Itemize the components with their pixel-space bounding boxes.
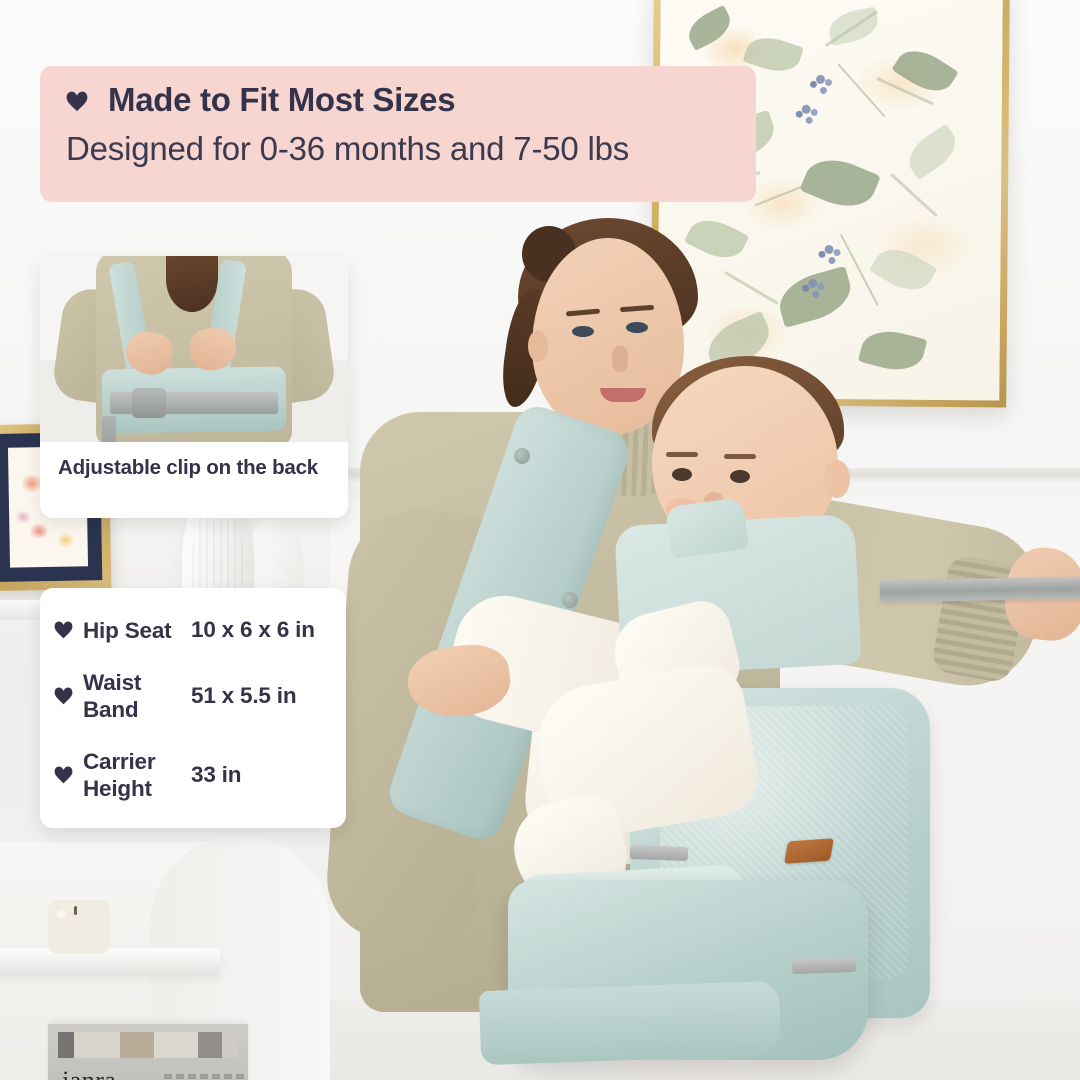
strap-snap-top: [514, 448, 530, 464]
banner-title: Made to Fit Most Sizes: [108, 82, 455, 118]
baby-eyebrow-right: [724, 454, 756, 459]
spec-label: Hip Seat: [83, 617, 181, 644]
carrier-waist-band: [479, 981, 781, 1065]
bubble-candle: [48, 900, 110, 954]
strap-snap-middle: [562, 592, 578, 608]
heart-icon: [54, 621, 73, 639]
inset-caption: Adjustable clip on the back: [40, 442, 348, 480]
adjustable-clip-photo: [40, 256, 348, 442]
heart-icon: [54, 687, 73, 705]
spec-label: Waist Band: [83, 669, 181, 723]
baby-eye-right: [730, 470, 750, 483]
coffee-table-book: janra: [48, 1024, 248, 1080]
mother-ear: [528, 330, 548, 362]
banner-subtitle: Designed for 0-36 months and 7-50 lbs: [66, 130, 728, 168]
baby-ear: [824, 460, 850, 498]
spec-row-waist-band: Waist Band 51 x 5.5 in: [54, 669, 332, 723]
spec-label: Carrier Height: [83, 748, 181, 802]
mother-with-baby: [300, 180, 1080, 1080]
baby-eye-left: [672, 468, 692, 481]
baby-eyebrow-left: [666, 452, 698, 457]
infographic-canvas: janra: [0, 0, 1080, 1080]
carrier-webbing-mid: [630, 845, 688, 861]
spec-value: 10 x 6 x 6 in: [191, 617, 315, 643]
mother-eye-left: [572, 326, 594, 337]
brand-leather-tag: [784, 838, 834, 864]
feature-inset-card: Adjustable clip on the back: [40, 256, 348, 518]
waist-strap-extended: [880, 576, 1080, 602]
spec-value: 51 x 5.5 in: [191, 683, 296, 709]
mother-nose: [612, 346, 628, 372]
book-title: janra: [62, 1066, 116, 1080]
mantel-shelf: [0, 948, 220, 974]
carrier-webbing-lower: [792, 957, 856, 974]
heart-icon: [54, 766, 73, 784]
mother-mouth: [600, 388, 646, 402]
headline-banner: Made to Fit Most Sizes Designed for 0-36…: [40, 66, 756, 202]
spec-value: 33 in: [191, 762, 241, 788]
heart-icon: [66, 91, 88, 112]
carrier-hood-tab: [665, 497, 749, 559]
candle-wick: [74, 906, 77, 915]
dimensions-card: Hip Seat 10 x 6 x 6 in Waist Band 51 x 5…: [40, 588, 346, 828]
spec-row-hip-seat: Hip Seat 10 x 6 x 6 in: [54, 617, 332, 644]
mother-eye-right: [626, 322, 648, 333]
spec-row-carrier-height: Carrier Height 33 in: [54, 748, 332, 802]
